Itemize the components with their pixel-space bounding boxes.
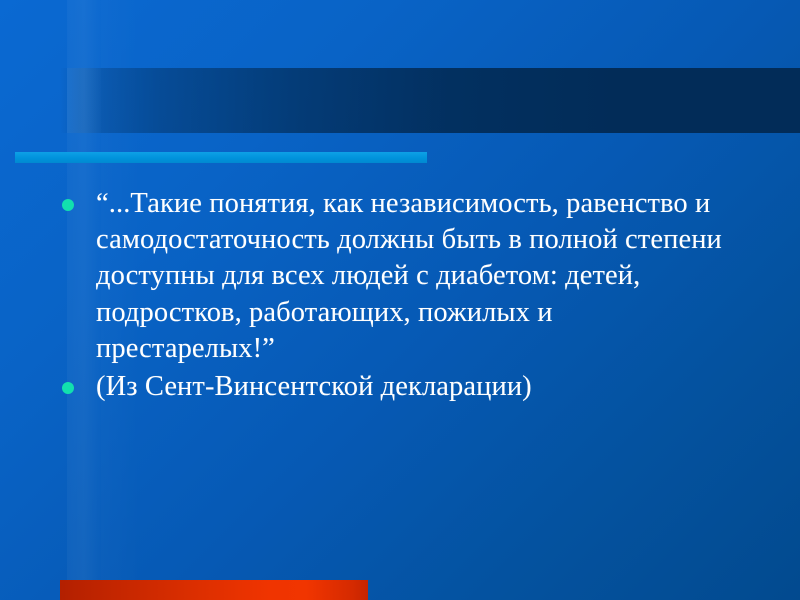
bullet-item-text: (Из Сент-Винсентской декларации)	[96, 369, 734, 405]
presentation-slide: “...Такие понятия, как независимость, ра…	[0, 0, 800, 600]
bullet-disc-icon	[62, 382, 74, 394]
bullet-list-item: (Из Сент-Винсентской декларации)	[62, 369, 734, 405]
bullet-list-item: “...Такие понятия, как независимость, ра…	[62, 186, 734, 367]
bullet-item-text: “...Такие понятия, как независимость, ра…	[96, 186, 734, 367]
dark-navy-band-notch-decoration	[67, 68, 101, 133]
dark-navy-band-decoration	[0, 68, 800, 133]
bullet-disc-icon	[62, 199, 74, 211]
red-gradient-bar-decoration	[60, 580, 368, 600]
cyan-accent-bar-decoration	[15, 152, 427, 163]
slide-body-content: “...Такие понятия, как независимость, ра…	[62, 186, 734, 405]
